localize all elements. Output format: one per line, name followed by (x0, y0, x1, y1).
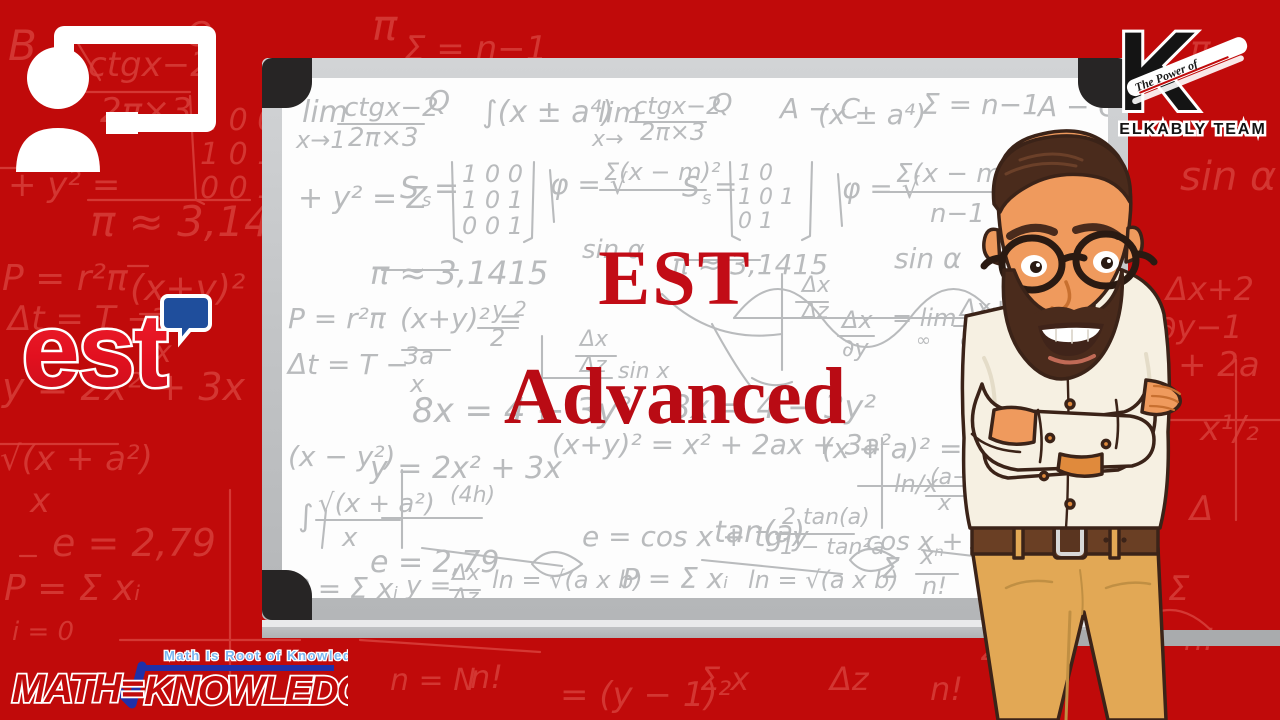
svg-text:Δx: Δx (840, 306, 873, 334)
svg-text:P = Σ xᵢ: P = Σ xᵢ (4, 568, 141, 609)
svg-text:Q: Q (712, 89, 732, 119)
svg-text:8x = 4 − 3y²: 8x = 4 − 3y² (670, 388, 876, 426)
svg-text:S: S (400, 171, 419, 206)
svg-text:(4h): (4h) (450, 483, 495, 508)
svg-text:x: x (341, 523, 358, 553)
svg-text:0 1: 0 1 (738, 209, 773, 234)
svg-text:x: x (29, 481, 51, 521)
svg-text:x→1: x→1 (295, 126, 346, 154)
est-speech-bubble-icon (162, 296, 210, 342)
svg-text:Δx: Δx (578, 327, 609, 352)
svg-text:Δx: Δx (800, 273, 831, 298)
svg-text:Δz: Δz (450, 585, 479, 598)
svg-text:= (y − 1)²: = (y − 1)² (560, 675, 732, 715)
svg-text:y: y (491, 296, 507, 324)
svg-text:e = 2,79: e = 2,79 (52, 521, 216, 565)
math-logo-right-word: KNOWLEDGE (144, 669, 348, 712)
svg-text:∫: ∫ (298, 499, 314, 534)
svg-text:Δz: Δz (827, 660, 870, 698)
svg-text:est: est (22, 293, 168, 398)
svg-text:Δt = T −: Δt = T − (286, 348, 409, 381)
svg-text:y = 2x² + 3x: y = 2x² + 3x (369, 451, 562, 486)
svg-text:ctgx−2: ctgx−2 (634, 92, 721, 120)
math-knowledge-logo: Math Is Root of Knowledge MATH= KNOWLEDG… (8, 640, 348, 712)
svg-text:1 0 0: 1 0 0 (462, 160, 523, 188)
svg-text:sin α: sin α (582, 235, 645, 265)
svg-text:π ≈ 3,1415: π ≈ 3,1415 (370, 254, 548, 292)
whiteboard-corner-bottom-left (262, 570, 312, 620)
svg-text:1 0 1: 1 0 1 (738, 185, 794, 210)
svg-text:3a: 3a (404, 342, 434, 370)
svg-text:2π×3: 2π×3 (348, 123, 419, 153)
svg-text:P = r²π: P = r²π (288, 302, 387, 335)
svg-text:2 tan(a): 2 tan(a) (782, 505, 870, 530)
svg-text:y =: y = (405, 571, 451, 598)
svg-text:Σ x: Σ x (700, 660, 750, 698)
svg-text:2: 2 (514, 297, 527, 321)
svg-text:Δx: Δx (450, 561, 481, 586)
svg-text:sin x: sin x (618, 359, 671, 384)
svg-text:ctgx−2: ctgx−2 (344, 93, 439, 123)
svg-text:1 0: 1 0 (738, 161, 773, 186)
svg-text:n = N: n = N (390, 663, 476, 698)
svg-text:x→: x→ (591, 127, 623, 152)
est-logo: est (18, 288, 228, 398)
svg-text:Q: Q (428, 84, 450, 117)
math-logo-tagline: Math Is Root of Knowledge (164, 648, 348, 663)
svg-text:8x = 4 − 3y²: 8x = 4 − 3y² (412, 391, 631, 431)
math-logo-left-word: MATH= (12, 667, 144, 711)
poster-canvas: B ctgx−2 2π×3 Q + y² = 1 0 0 1 0 1 0 0 1… (0, 0, 1280, 720)
svg-text:∫(x ± a⁴): ∫(x ± a⁴) (482, 95, 613, 130)
svg-text:Σ(x − m)²: Σ(x − m)² (604, 158, 721, 186)
svg-text:1 0 1: 1 0 1 (462, 186, 523, 214)
svg-text:√(x + a²): √(x + a²) (0, 439, 153, 479)
svg-text:=: = (434, 171, 459, 206)
svg-text:√(x + a²): √(x + a²) (318, 489, 435, 519)
svg-text:0 0 1: 0 0 1 (462, 212, 523, 240)
instructor-hand (1142, 380, 1180, 415)
svg-text:π: π (372, 1, 398, 50)
svg-text:n!: n! (470, 658, 503, 696)
svg-text:ln = √(a x b): ln = √(a x b) (492, 566, 643, 594)
svg-text:s: s (422, 190, 431, 211)
presenter-person-screen-icon (10, 12, 225, 177)
svg-text:Σ = n−1: Σ = n−1 (922, 88, 1040, 121)
instructor-illustration (910, 118, 1230, 720)
svg-text:s: s (702, 188, 711, 209)
